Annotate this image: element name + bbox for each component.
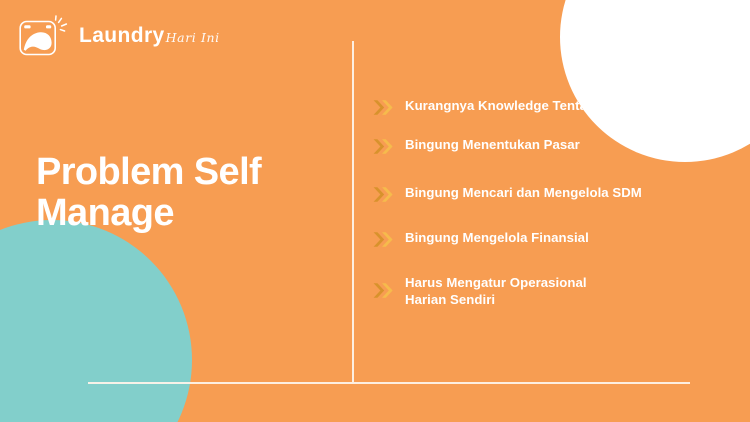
list-item-label: Bingung Mencari dan Mengelola SDM xyxy=(405,183,642,201)
slide-canvas: Laundry Hari Ini Problem Self Manage Kur… xyxy=(0,0,750,422)
double-chevron-right-icon xyxy=(372,230,396,249)
list-item[interactable]: Bingung Mengelola Finansial xyxy=(372,228,720,249)
double-chevron-right-icon xyxy=(372,98,396,117)
list-item[interactable]: Harus Mengatur Operasional Harian Sendir… xyxy=(372,273,720,309)
list-item-label: Kurangnya Knowledge Tentang Laundry xyxy=(405,96,659,114)
double-chevron-right-icon xyxy=(372,281,396,300)
problem-list: Kurangnya Knowledge Tentang Laundry Bing… xyxy=(372,96,720,309)
list-item-label: Bingung Menentukan Pasar xyxy=(405,135,580,153)
list-item[interactable]: Kurangnya Knowledge Tentang Laundry xyxy=(372,96,720,117)
double-chevron-right-icon xyxy=(372,137,396,156)
washing-machine-icon xyxy=(18,13,70,57)
page-title: Problem Self Manage xyxy=(36,152,326,234)
horizontal-divider xyxy=(88,382,690,384)
vertical-divider xyxy=(352,41,354,382)
list-item[interactable]: Bingung Menentukan Pasar xyxy=(372,135,720,156)
double-chevron-right-icon xyxy=(372,185,396,204)
brand-logo[interactable]: Laundry Hari Ini xyxy=(18,12,220,58)
list-item-label: Bingung Mengelola Finansial xyxy=(405,228,589,246)
decorative-circle-bottom-left xyxy=(0,220,192,422)
list-item[interactable]: Bingung Mencari dan Mengelola SDM xyxy=(372,183,720,204)
list-item-label: Harus Mengatur Operasional Harian Sendir… xyxy=(405,273,587,309)
brand-wordmark: Laundry Hari Ini xyxy=(79,25,220,46)
brand-name-secondary: Hari Ini xyxy=(166,32,220,45)
brand-name-primary: Laundry xyxy=(79,25,165,46)
